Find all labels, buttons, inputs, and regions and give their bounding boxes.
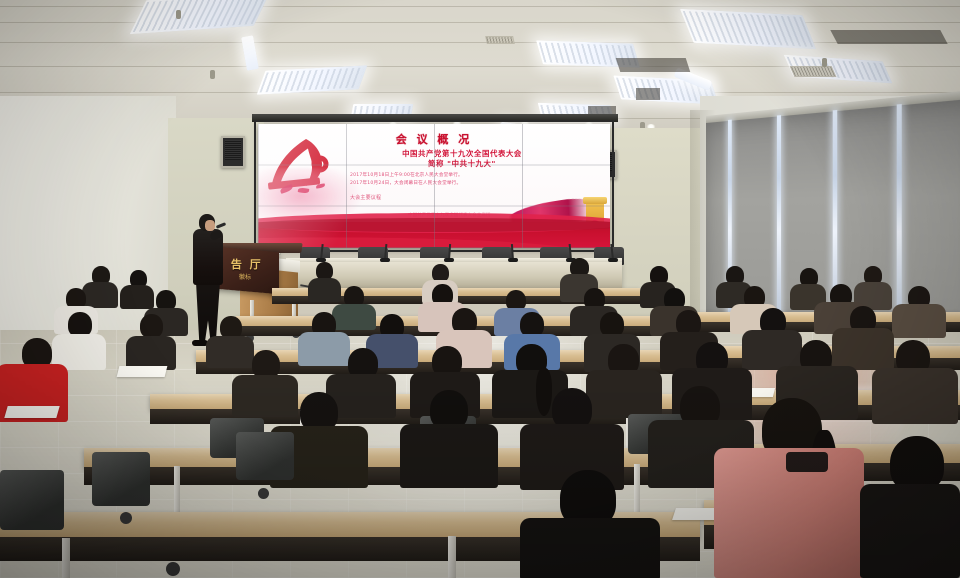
audience-chair[interactable] [236, 432, 294, 480]
attendee-body [206, 336, 254, 368]
smoke-detector [210, 70, 215, 79]
ceiling-air-vent [790, 66, 837, 77]
desk-leg [448, 536, 456, 578]
attendee-body [860, 484, 960, 578]
wall-speaker-left [221, 136, 245, 168]
blind-light-gap [897, 104, 902, 336]
handout-paper [117, 366, 168, 377]
handout-paper [4, 406, 59, 418]
attendee-body [126, 336, 176, 370]
presenter-face [205, 220, 215, 231]
screen-bezel [254, 120, 614, 252]
microphone-base [444, 258, 454, 262]
attendee-body [120, 285, 154, 309]
microphone-base [508, 258, 518, 262]
attendee-body [892, 304, 946, 338]
smoke-detector [176, 10, 181, 19]
ceiling-recess [830, 30, 947, 44]
attendee-body [308, 278, 341, 302]
chair-caster [166, 562, 180, 576]
ceiling-recess [588, 106, 616, 114]
attendee-body [232, 375, 298, 417]
ceiling-air-vent [485, 36, 515, 44]
handout-paper [672, 508, 720, 520]
attendee-body [298, 332, 350, 366]
attendee-body [832, 328, 894, 370]
attendee-body [332, 304, 376, 330]
attendee-body [82, 282, 118, 308]
attendee-ponytail [536, 368, 552, 416]
audience-chair[interactable] [92, 452, 150, 506]
attendee-head [140, 314, 163, 338]
chair-caster [120, 512, 132, 524]
blind-light-gap [777, 115, 781, 325]
attendee-body [872, 368, 958, 424]
attendee-collar [786, 452, 828, 472]
ceiling-recess [636, 88, 660, 100]
attendee-body [742, 330, 802, 370]
chair-caster [258, 488, 269, 499]
ceiling-recess [616, 58, 691, 72]
ceiling-panel-light [680, 9, 816, 49]
microphone-base [380, 258, 390, 262]
microphone-base [608, 258, 618, 262]
conference-hall-photo: 会 议 概 况 中国共产党第十九次全国代表大会 简称 "中共十九大" 2017年… [0, 0, 960, 578]
audience-chair[interactable] [0, 470, 64, 530]
smoke-detector [822, 58, 827, 67]
attendee-body [520, 518, 660, 578]
attendee-body [400, 424, 498, 488]
lectern-logo: 徽标 [236, 272, 254, 281]
attendee-body [586, 370, 662, 418]
desk-leg [62, 538, 70, 578]
